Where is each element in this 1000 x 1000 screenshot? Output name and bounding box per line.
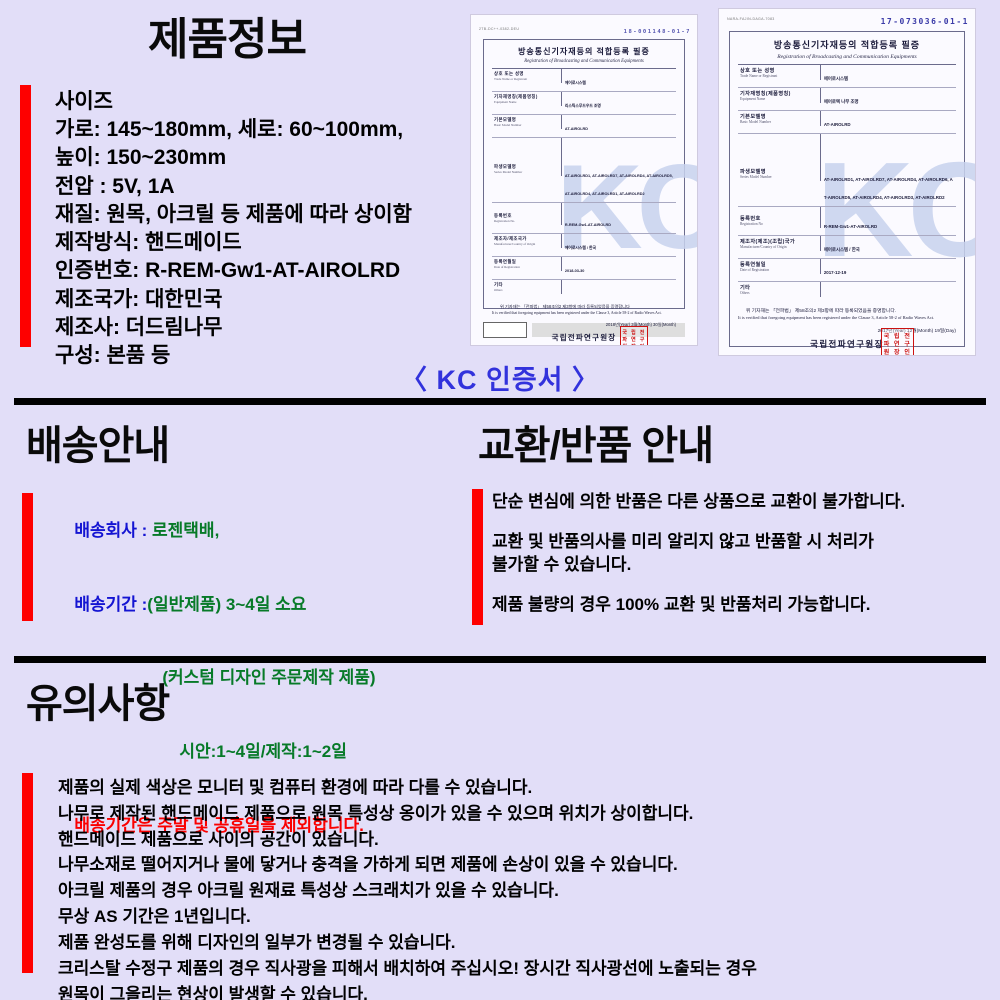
product-info-row: 인증번호: R-REM-Gw1-AT-AIROLRD [55,257,412,285]
cert-signer-en: Director General of National Radio Resea… [738,355,956,356]
cert-row: 등록번호Registration No. R-REM-Gw1-AT-AIROLR… [492,202,676,233]
cert-label-ko: 등록연월일 [740,261,818,268]
section-divider [14,398,986,405]
cert-row: 상호 또는 성명Trade Name or Registrant 에어로시스템 [738,65,956,87]
shipping-label: 배송기간 : [74,595,147,614]
cert-label-en: Manufacturer/Country of Origin [740,245,818,249]
notice-row: 아크릴 제품의 경우 아크릴 원재료 특성상 스크래치가 있을 수 있습니다. [58,878,978,904]
cert-heading-ko: 방송통신기자재등의 적합등록 필증 [738,38,956,51]
cert-value: 에어로시스템 / 한국 [824,247,860,252]
cert-label-en: Others [740,291,818,295]
cert-row: 기자재명칭(제품명칭)Equipment Name 리스틱스무드우드 조명 [492,91,676,114]
cert-label-ko: 기타 [740,284,818,291]
cert-verify-ko: 위 기자재는 「전파법」 제58조의2 제3항에 따라 등록되었음을 증명합니다… [738,307,956,314]
notice-row: 나무로 제작된 핸드메이드 제품으로 원목 특성상 옹이가 있을 수 있으며 위… [58,801,978,827]
cert-label-en: Registration No [740,222,818,226]
cert-row: 등록연월일Date of Registration 2018-03-30 [492,256,676,279]
cert-corner-code: NARA-FAJIN-DAGA-7083 [727,17,775,21]
shipping-value: 시안:1~4일/제작:1~2일 [179,742,347,761]
cert-date: 2018년(Year) 3월(Month) 30일(Month) [492,322,676,328]
kc-certificate-caption: 〈 KC 인증서 〉 [0,358,1000,397]
cert-value: AT-AIROLRD [824,122,851,127]
cert-row: 기본모델명Basic Model Number AT-AIROLRD [738,110,956,133]
shipping-row: 배송기간 :(일반제품) 3~4일 소요 [46,568,376,642]
cert-label-en: Manufacturer/Country of Origin [494,242,559,246]
product-info-row: 전압 : 5V, 1A [55,173,412,201]
cert-value: AT-AIROLRD1, AT-AIROLRD7, AT-AIROLRD4, A… [824,177,953,200]
cert-value: 에어로텍 나무 조명 [824,99,859,104]
shipping-value: (커스텀 디자인 주문제작 제품) [162,668,375,687]
cert-label-en: Trade Name or Registrant [740,74,818,78]
product-info-row: 제조사: 더드림나무 [55,314,412,342]
product-info-row: 가로: 145~180mm, 세로: 60~100mm, [55,116,412,144]
exchange-paragraph: 단순 변심에 의한 반품은 다른 상품으로 교환이 불가합니다. [492,491,992,514]
notice-row: 핸드메이드 제품으로 사이의 공간이 있습니다. [58,827,978,853]
cert-label-en: Basic Model Number [740,120,818,124]
cert-value: 2017-12-19 [824,270,846,275]
cert-value: 에어로시스템 [824,76,848,81]
cert-footer: 위 기자재는 「전파법」 제58조의2 제3항에 따라 등록되었음을 증명합니다… [484,300,684,346]
product-info-title: 제품정보 [148,18,306,62]
cert-value: 2018-03-30 [565,269,584,273]
cert-label-en: Series Model Number [494,170,559,174]
cert-label-en: Basic Model Number [494,123,559,127]
cert-frame: KC 방송통신기자재등의 적합등록 필증 Registration of Bro… [729,31,965,347]
notice-list: 제품의 실제 색상은 모니터 및 컴퓨터 환경에 따라 다를 수 있습니다. 나… [58,775,978,1000]
product-info-row: 재질: 원목, 아크릴 등 제품에 따라 상이함 [55,201,412,229]
cert-label-ko: 기자재명칭(제품명칭) [740,90,818,97]
cert-value: R-REM-Gw1-AT-AIROLRD [565,223,611,227]
official-seal-icon: 국립전 파연구 원장인 [881,328,914,356]
notice-accent-bar [22,773,33,973]
cert-label-ko: 파생모델명 [740,168,818,175]
cert-footer: 위 기자재는 「전파법」 제58조의2 제3항에 따라 등록되었음을 증명합니다… [730,303,964,356]
cert-label-en: Equipment Name [494,100,559,104]
cert-row: 등록연월일Date of Registration 2017-12-19 [738,258,956,281]
product-info-list: 사이즈 가로: 145~180mm, 세로: 60~100mm, 높이: 150… [55,88,412,370]
cert-heading-en: Registration of Broadcasting and Communi… [492,59,676,64]
cert-label-en: Date of Registration [740,268,818,272]
cert-heading-en: Registration of Broadcasting and Communi… [738,54,956,60]
cert-row: 상호 또는 성명Trade Name or Registrant 에어로시스템 [492,69,676,91]
notice-row: 무상 AS 기간은 1년입니다. [58,904,978,930]
notice-row: 원목이 그을리는 현상이 발생할 수 있습니다. [58,982,978,1000]
section-divider [14,656,986,663]
cert-heading-ko: 방송통신기자재등의 적합등록 필증 [492,46,676,57]
exchange-paragraph: 제품 불량의 경우 100% 교환 및 반품처리 가능합니다. [492,594,992,617]
cert-label-en: Date of Registration [494,265,559,269]
cert-corner-code: 2TB-DC++-0382-DEU [479,27,519,31]
kc-certificate-image-right: NARA-FAJIN-DAGA-7083 17-073036-01-1 KC 방… [718,8,976,356]
cert-row: 기자재명칭(제품명칭)Equipment Name 에어로텍 나무 조명 [738,87,956,110]
notice-row: 제품의 실제 색상은 모니터 및 컴퓨터 환경에 따라 다를 수 있습니다. [58,775,978,801]
cert-row: 기본모델명Basic Model Number AT-AIROLRD [492,114,676,137]
cert-verify-en: It is verified that foregoing equipment … [738,314,956,321]
notice-title: 유의사항 [26,684,169,724]
cert-row: 기타Others [738,281,956,297]
notice-row: 나무소재로 떨어지거나 물에 닿거나 충격을 가하게 되면 제품에 손상이 있을… [58,852,978,878]
cert-signer-ko-text: 국립전파연구원장 [810,339,884,349]
cert-row: 파생모델명Series Model Number AT-AIROLRD1, AT… [492,137,676,202]
cert-label-en: Equipment Name [740,97,818,101]
shipping-label: 배송회사 : [74,521,152,540]
notice-row: 제품 완성도를 위해 디자인의 일부가 변경될 수 있습니다. [58,930,978,956]
cert-label-en: Registration No. [494,219,559,223]
product-info-row: 사이즈 [55,88,412,116]
cert-row: 제조자/제조국가Manufacturer/Country of Origin 에… [492,233,676,256]
cert-value: 에어로시스템 [565,81,586,85]
cert-row: 파생모델명Series Model Number AT-AIROLRD1, AT… [738,133,956,206]
cert-label-en: Others [494,288,559,292]
kc-certificate-image-left: 2TB-DC++-0382-DEU 18-001148-01-7 KC 방송통신… [470,14,698,346]
cert-signer-ko: 국립전파연구원장 국립전 파연구 원장인 [738,338,956,350]
cert-verify-en: It is verified that foregoing equipment … [492,310,676,316]
shipping-accent-bar [22,493,33,621]
shipping-value: 로젠택배, [152,521,219,540]
exchange-paragraph: 교환 및 반품의사를 미리 알리지 않고 반품할 시 처리가 불가할 수 있습니… [492,531,992,577]
cert-signer-ko: 국립전파연구원장 국립전 파연구 원장인 [492,332,676,343]
exchange-accent-bar [472,489,483,625]
cert-label-ko: 기본모델명 [740,113,818,120]
exchange-return-title: 교환/반품 안내 [478,426,713,466]
official-seal-icon: 국립전 파연구 원장인 [620,326,648,346]
cert-label-ko: 제조자(제조)(조립)국가 [740,238,818,245]
cert-date: 2017년(Year) 12월(Month) 19일(Day) [738,327,956,334]
cert-row: 등록번호Registration No R-REM-Gw1-AT-AIROLRD [738,206,956,235]
cert-row: 제조자(제조)(조립)국가Manufacturer/Country of Ori… [738,235,956,258]
shipping-row: 배송회사 : 로젠택배, [46,494,376,568]
shipping-title: 배송안내 [26,426,169,466]
product-info-row: 높이: 150~230mm [55,144,412,172]
exchange-return-list: 단순 변심에 의한 반품은 다른 상품으로 교환이 불가합니다. 교환 및 반품… [492,491,992,617]
cert-frame: KC 방송통신기자재등의 적합등록 필증 Registration of Bro… [483,39,685,309]
shipping-value: (일반제품) 3~4일 소요 [147,595,306,614]
cert-value: 에어로시스템 / 한국 [565,246,596,250]
product-info-accent-bar [20,85,31,347]
product-info-row: 제작방식: 핸드메이드 [55,229,412,257]
notice-row: 크리스탈 수정구 제품의 경우 직사광을 피해서 배치하여 주십시오! 장시간 … [58,956,978,982]
cert-value: R-REM-Gw1-AT-AIROLRD [824,224,877,229]
cert-row: 기타Others [492,279,676,294]
cert-signer-ko-text: 국립전파연구원장 [552,333,617,342]
cert-value: 리스틱스무드우드 조명 [565,104,601,108]
product-detail-page: 제품정보 사이즈 가로: 145~180mm, 세로: 60~100mm, 높이… [0,0,1000,1000]
cert-label-en: Series Model Number [740,175,818,179]
cert-value: AT-AIROLRD1, AT-AIROLRD7, AT-AIROLRD4, A… [565,174,673,196]
cert-label-en: Trade Name or Registrant [494,77,559,81]
product-info-row: 제조국가: 대한민국 [55,286,412,314]
cert-label-ko: 등록번호 [740,215,818,222]
cert-label-ko: 상호 또는 성명 [740,67,818,74]
cert-value: AT-AIROLRD [565,127,588,131]
